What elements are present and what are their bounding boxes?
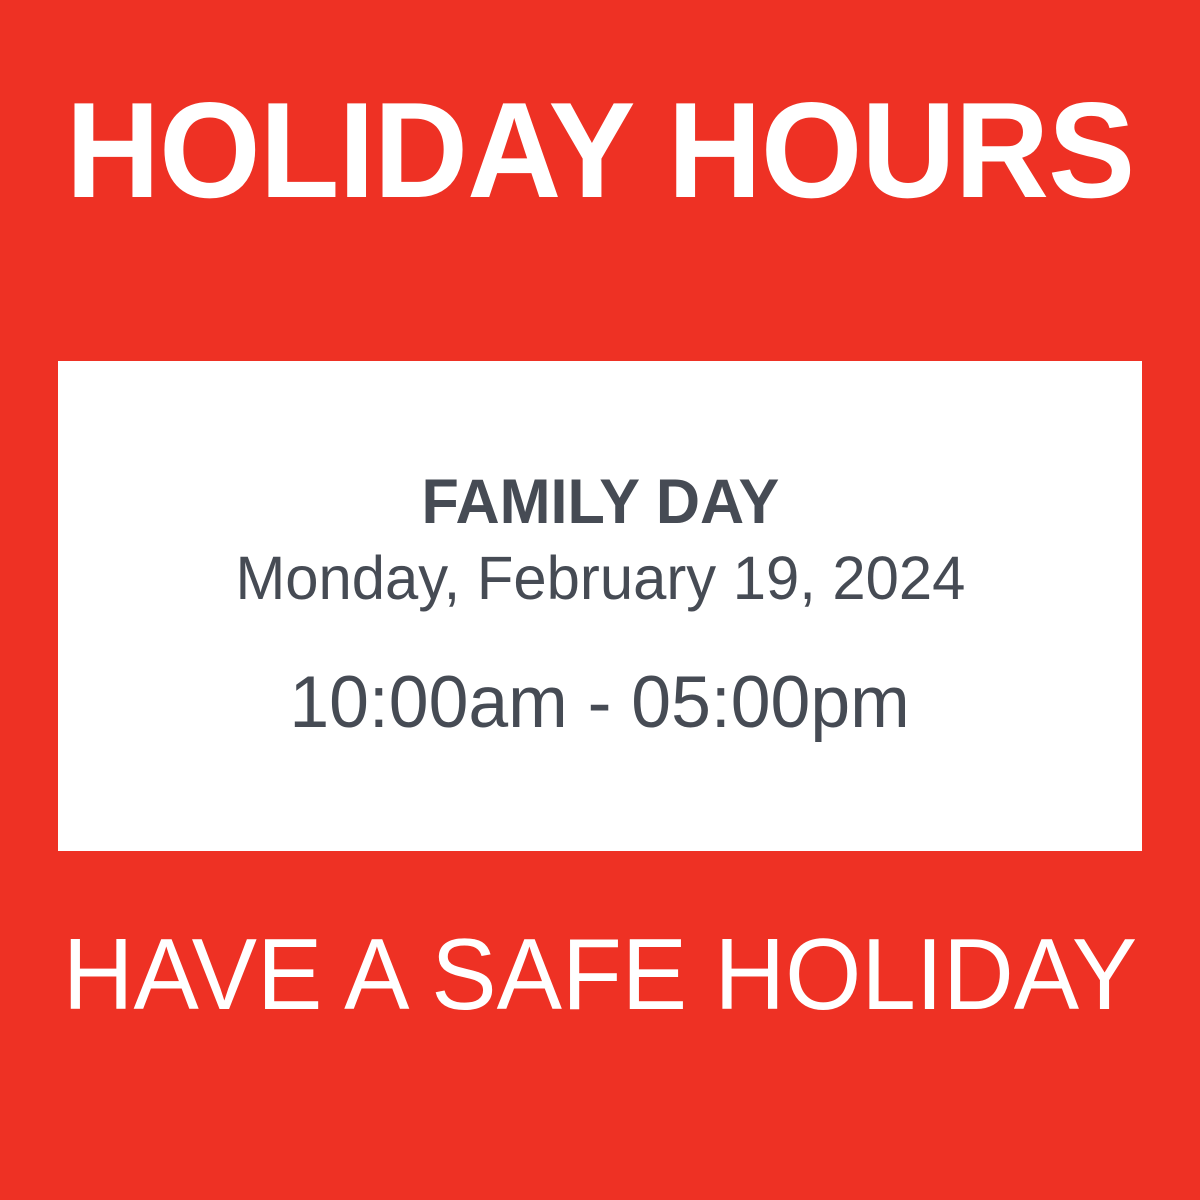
holiday-date: Monday, February 19, 2024 [235,541,965,615]
page-title: HOLIDAY HOURS [24,0,1176,300]
footer-message: HAVE A SAFE HOLIDAY [18,900,1182,1050]
holiday-info-card-content: FAMILY DAY Monday, February 19, 2024 10:… [58,361,1142,851]
holiday-hours-poster: HOLIDAY HOURS FAMILY DAY Monday, Februar… [0,0,1200,1200]
holiday-hours-range: 10:00am - 05:00pm [290,663,910,743]
holiday-info-card: FAMILY DAY Monday, February 19, 2024 10:… [58,361,1142,851]
holiday-name: FAMILY DAY [421,469,779,535]
